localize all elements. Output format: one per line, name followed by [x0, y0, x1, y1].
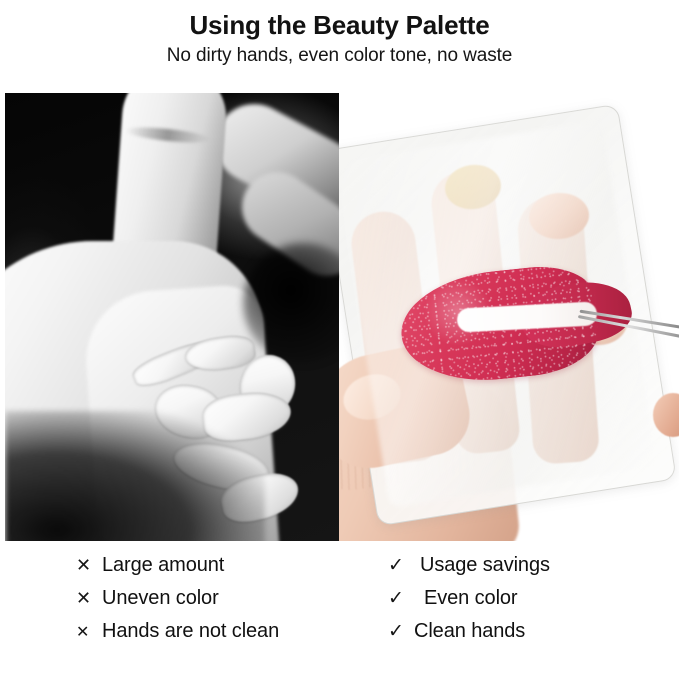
list-item-label: Large amount: [102, 549, 224, 582]
comparison-lists: ✕ Large amount ✕ Uneven color ✕ Hands ar…: [0, 549, 679, 679]
list-item-label: Uneven color: [102, 582, 219, 615]
cons-list: ✕ Large amount ✕ Uneven color ✕ Hands ar…: [0, 549, 378, 679]
lipstick-swatch-group: [401, 261, 651, 391]
cross-icon: ✕: [76, 549, 102, 582]
list-item: ✕ Hands are not clean: [76, 615, 378, 648]
page-title: Using the Beauty Palette: [0, 9, 679, 41]
photo-left-bottom-shadow: [5, 411, 265, 541]
photo-hand-with-palette: [339, 93, 679, 541]
comparison-photo-strip: [5, 93, 679, 541]
list-item: ✓ Clean hands: [388, 615, 679, 648]
check-icon: ✓: [388, 615, 414, 648]
page-subtitle: No dirty hands, even color tone, no wast…: [0, 43, 679, 69]
list-item: ✓ Usage savings: [388, 549, 679, 582]
photo-hand-with-cream: [5, 93, 339, 541]
check-icon: ✓: [388, 549, 414, 582]
check-icon: ✓: [388, 582, 414, 615]
pros-list: ✓ Usage savings ✓ Even color ✓ Clean han…: [378, 549, 679, 679]
list-item-label: Hands are not clean: [102, 615, 279, 648]
list-item: ✓ Even color: [388, 582, 679, 615]
list-item: ✕ Large amount: [76, 549, 378, 582]
list-item-label: Clean hands: [414, 615, 525, 648]
page-header: Using the Beauty Palette No dirty hands,…: [0, 0, 679, 69]
list-item-label: Even color: [414, 582, 518, 615]
cross-icon: ✕: [76, 582, 102, 615]
list-item-label: Usage savings: [414, 549, 550, 582]
cross-icon: ✕: [76, 616, 102, 649]
list-item: ✕ Uneven color: [76, 582, 378, 615]
